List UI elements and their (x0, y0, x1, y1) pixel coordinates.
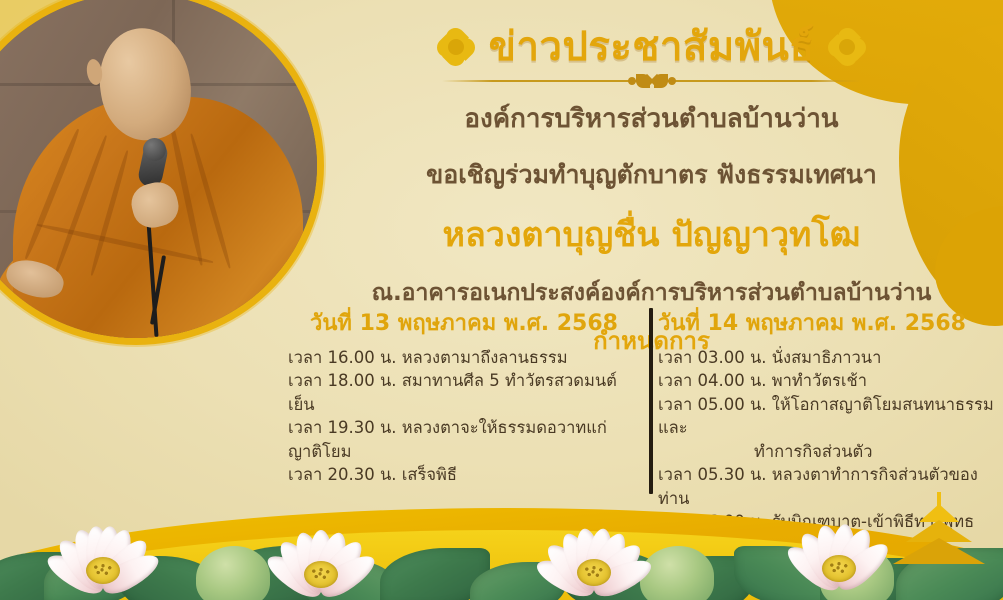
lotus-bud-icon (196, 546, 270, 600)
diamond-flower-icon-left (437, 28, 475, 66)
schedule-item: เวลา 05.00 น. ให้โอกาสญาติโยมสนทนาธรรมแล… (658, 393, 1003, 463)
page-title: ข่าวประชาสัมพันธ์ (489, 26, 815, 68)
lotus-flower-icon (528, 504, 660, 596)
schedule-item: เวลา 04.00 น. พาทำวัตรเช้า (658, 369, 1003, 392)
organization-name: องค์การบริหารส่วนตำบลบ้านว่าน (300, 98, 1003, 139)
decorative-divider (442, 74, 862, 88)
monk-name: หลวงตาบุญชื่น ปัญญาวุทโฒ (300, 207, 1003, 261)
title-row: ข่าวประชาสัมพันธ์ (300, 26, 1003, 68)
schedule-day2-heading: วันที่ 14 พฤษภาคม พ.ศ. 2568 (658, 305, 1003, 340)
schedule-item: เวลา 19.30 น. หลวงตาจะให้ธรรมดอวาทแก่ญาต… (288, 416, 640, 463)
lotus-flower-icon (262, 512, 380, 598)
schedule-item: เวลา 18.00 น. สมาทานศีล 5 ทำวัตรสวดมนต์เ… (288, 369, 640, 416)
lotus-flower-icon (44, 508, 162, 594)
microphone-head-icon (143, 138, 166, 161)
monk-photo (0, 0, 317, 338)
diamond-flower-icon-right (828, 28, 866, 66)
schedule-item: เวลา 16.00 น. หลวงตามาถึงลานธรรม (288, 346, 640, 369)
schedule-item-continuation: ทำการกิจส่วนตัว (658, 440, 1003, 463)
schedule-section: วันที่ 13 พฤษภาคม พ.ศ. 2568 เวลา 16.00 น… (0, 305, 1003, 515)
schedule-day1-column: วันที่ 13 พฤษภาคม พ.ศ. 2568 เวลา 16.00 น… (288, 305, 640, 487)
bottom-lotus-decoration (0, 485, 1003, 600)
schedule-item: เวลา 03.00 น. นั่งสมาธิภาวนา (658, 346, 1003, 369)
lotus-flower-icon (780, 506, 898, 592)
monk-portrait-oval-frame (0, 0, 324, 345)
schedule-item-text: เวลา 05.00 น. ให้โอกาสญาติโยมสนทนาธรรมแล… (658, 395, 994, 437)
column-divider (649, 308, 653, 494)
schedule-day1-heading: วันที่ 13 พฤษภาคม พ.ศ. 2568 (288, 305, 640, 340)
invitation-text: ขอเชิญร่วมทำบุญตักบาตร ฟังธรรมเทศนา (300, 155, 1003, 195)
thai-pagoda-roof-icon (891, 492, 987, 576)
announcement-poster: ข่าวประชาสัมพันธ์ องค์การบริหารส่วนตำบลบ… (0, 0, 1003, 600)
schedule-item: เวลา 20.30 น. เสร็จพิธี (288, 463, 640, 486)
